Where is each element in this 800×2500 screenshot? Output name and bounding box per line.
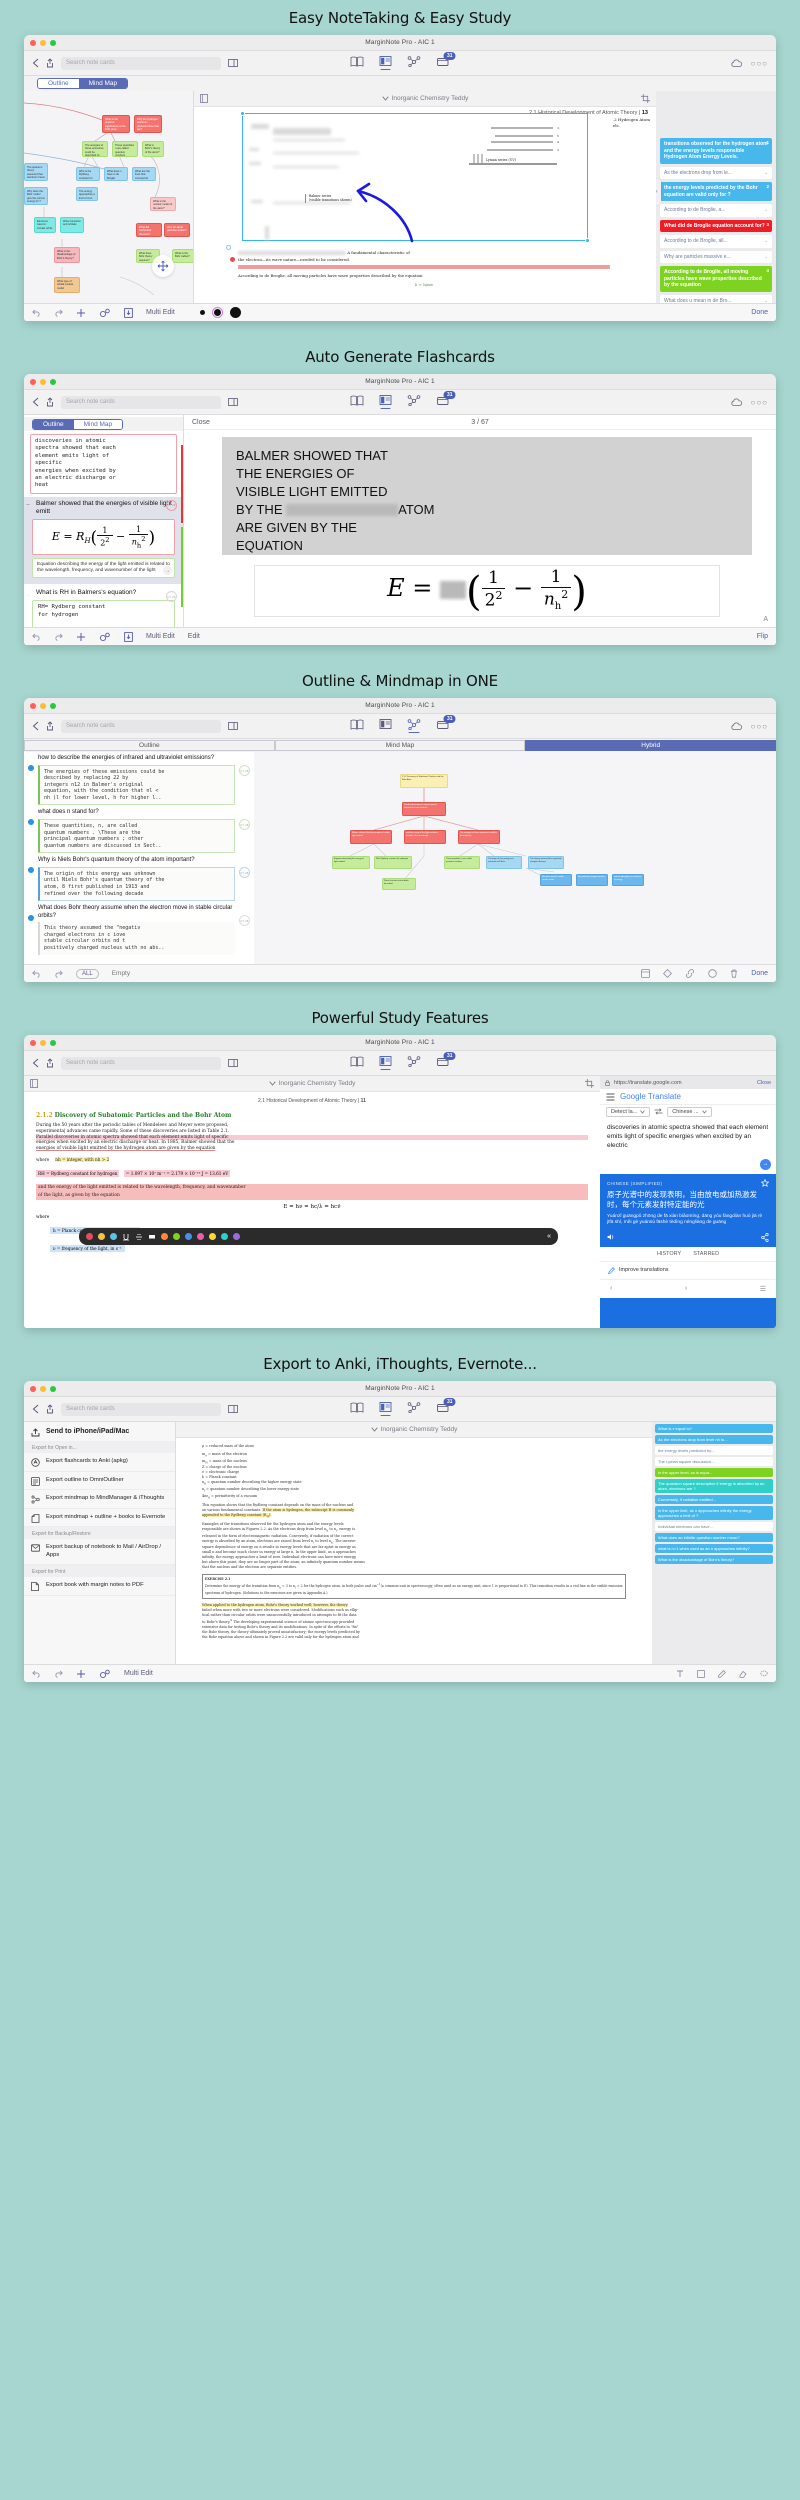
- note-card[interactable]: According to de Broglie, a...→: [660, 204, 772, 217]
- comment-marker[interactable]: [230, 257, 235, 262]
- flashcards-icon[interactable]: 31: [437, 719, 450, 733]
- pan-handle[interactable]: [152, 255, 174, 277]
- underline-icon[interactable]: [122, 1233, 130, 1241]
- mindmap-node[interactable]: 2.1.2 Discovery of Subatomic Particles a…: [400, 774, 448, 788]
- outline-selected-block[interactable]: − Balmer showed that the energies of vis…: [24, 497, 183, 584]
- search-input[interactable]: Search note cards: [61, 57, 221, 70]
- color-swatch-teal[interactable]: [221, 1233, 228, 1240]
- study-view-icon[interactable]: [380, 395, 392, 409]
- toolbar-right-3: ○○○: [730, 722, 769, 731]
- mindmap-node[interactable]: What is the Bohr radius?: [172, 249, 194, 263]
- color-swatch-red[interactable]: [86, 1233, 93, 1240]
- mindmap-pane-1[interactable]: What is the physical significance of the…: [24, 91, 194, 303]
- outline-note-1[interactable]: discoveries in atomic spectra showed tha…: [30, 434, 177, 494]
- undo-icon[interactable]: [32, 633, 41, 641]
- review-badge[interactable]: FY 28: [239, 867, 250, 878]
- add-icon[interactable]: [76, 632, 86, 642]
- flashcard-counter: 3 / 67: [471, 419, 489, 426]
- mindmap-icon[interactable]: [408, 1056, 421, 1070]
- flashcards-icon[interactable]: 31: [437, 1402, 450, 1416]
- document-title-5[interactable]: Inorganic Chemistry Teddy: [381, 1426, 458, 1433]
- note-cards-pane-1[interactable]: 1transitions observed for the hydrogen a…: [656, 91, 776, 303]
- undo-icon[interactable]: [32, 1670, 41, 1678]
- prev-palette-icon[interactable]: «: [547, 1233, 551, 1240]
- note-cards-pane-5[interactable]: What is x equal to? As the electrons dro…: [652, 1422, 776, 1664]
- study-view-icon[interactable]: [380, 56, 392, 70]
- flip-button[interactable]: Flip: [757, 633, 768, 640]
- improve-translations-link[interactable]: Improve translations: [600, 1261, 776, 1279]
- outline-green-note-1[interactable]: Equation describing the energy of the li…: [32, 558, 175, 578]
- undo-icon[interactable]: [32, 970, 41, 978]
- share-icon[interactable]: [46, 1404, 54, 1414]
- mindmap-icon[interactable]: [408, 395, 421, 409]
- target-language-select[interactable]: Chinese ...: [667, 1107, 711, 1117]
- mindmap-node[interactable]: What does n have in de Broglie equation?: [104, 167, 128, 181]
- flashcards-icon[interactable]: 31: [437, 56, 450, 70]
- note-card[interactable]: 2the energy levels predicted by the Bohr…: [660, 182, 772, 201]
- search-input[interactable]: Search note cards: [61, 1403, 221, 1416]
- view-mode-tabs[interactable]: 31: [351, 719, 450, 733]
- export-item-omnioutliner[interactable]: Export outline to OmniOutliner: [24, 1472, 175, 1491]
- outline-sidebar-2[interactable]: Outline Mind Map discoveries in atomic s…: [24, 415, 184, 627]
- mindmap-node[interactable]: with no absorption or emission of energy: [612, 874, 644, 886]
- chevron-down-icon: [702, 1110, 707, 1114]
- mindmap-node[interactable]: The origin of this energy was unknown un…: [486, 856, 522, 869]
- export-item-pdf[interactable]: Export book with margin notes to PDF: [24, 1577, 175, 1596]
- star-icon[interactable]: [761, 1179, 769, 1187]
- starred-tab[interactable]: STARRED: [693, 1251, 719, 1257]
- pen-tool-icon[interactable]: [718, 1670, 726, 1678]
- review-badge[interactable]: FY 28: [239, 765, 250, 776]
- tab-mindmap-1[interactable]: Mind Map: [79, 79, 128, 88]
- mindmap-node[interactable]: Electrons travel in circular orbits: [34, 217, 56, 233]
- tag-icon[interactable]: [663, 969, 672, 978]
- mindmap-node[interactable]: What is the physical significance of the…: [102, 115, 130, 133]
- review-badge[interactable]: FY 28: [166, 500, 177, 511]
- bottom-bar-5: Multi Edit: [24, 1664, 776, 1682]
- note-card[interactable]: The quantum square description if energy…: [655, 1479, 773, 1493]
- text-tool-icon[interactable]: [676, 1670, 684, 1678]
- share-icon[interactable]: [46, 721, 54, 731]
- flashcards-icon[interactable]: 31: [437, 1056, 450, 1070]
- titlebar-1: MarginNote Pro - AIC 1: [24, 35, 776, 51]
- fig-caption-right: .2 Hydrogen Atom els.: [613, 117, 650, 129]
- color-icon[interactable]: [708, 969, 717, 978]
- mindmap-node[interactable]: What are the lines that correspond and r…: [132, 167, 156, 181]
- back-icon[interactable]: [32, 397, 39, 407]
- export-icon[interactable]: [124, 308, 133, 318]
- hybrid-tabs[interactable]: Outline Mind Map Hybrid: [24, 739, 776, 752]
- flashcard-equation-text: E = (122 − 1nh2): [387, 567, 587, 615]
- split-view-icon[interactable]: [228, 59, 238, 67]
- outline-question: what does n stand for?: [38, 809, 235, 817]
- study-view-icon[interactable]: [380, 1056, 392, 1070]
- study-view-icon[interactable]: [380, 1402, 392, 1416]
- mindmap-icon[interactable]: [408, 1402, 421, 1416]
- document-list-icon[interactable]: [30, 1079, 38, 1088]
- selection-dot[interactable]: [28, 819, 34, 825]
- note-card[interactable]: What is the disadvantage of Bohr's theor…: [655, 1555, 773, 1564]
- note-card[interactable]: 1transitions observed for the hydrogen a…: [660, 138, 772, 164]
- outline-pane-3[interactable]: how to describe the energies of infrared…: [24, 752, 254, 964]
- mindmap-node[interactable]: The energies of these emissions could be…: [82, 141, 108, 157]
- split-view-icon[interactable]: [228, 398, 238, 406]
- lasso-tool-icon[interactable]: [760, 1670, 768, 1678]
- export-group-label: Export for Backup/Restore: [24, 1527, 175, 1539]
- browser-url-bar[interactable]: https://translate.google.com Close: [600, 1076, 776, 1089]
- doc-where-rh-value[interactable]: = 1.097 × 10⁷ m⁻¹ = 2.179 × 10⁻¹⁸ J = 13…: [124, 1170, 230, 1177]
- note-card[interactable]: 3What did de Broglie equation account fo…: [660, 220, 772, 233]
- done-button-1[interactable]: Done: [751, 309, 768, 316]
- pen-size-small[interactable]: [200, 310, 205, 315]
- note-card[interactable]: What is x equal to?: [655, 1424, 773, 1433]
- color-swatch-pink[interactable]: [197, 1233, 204, 1240]
- redo-icon[interactable]: [54, 1670, 63, 1678]
- mindmap-icon: [31, 1495, 40, 1504]
- split-view-icon[interactable]: [228, 1405, 238, 1413]
- mindmap-node[interactable]: These quantities n are called quantum nu…: [444, 856, 480, 869]
- export-group-label: Export for Print: [24, 1565, 175, 1577]
- document-title-1[interactable]: Inorganic Chemistry Teddy: [392, 95, 469, 102]
- back-icon[interactable]: [32, 1058, 39, 1068]
- strikethrough-icon[interactable]: [135, 1233, 143, 1241]
- mindmap-node[interactable]: The energy approaches a limit of zero: [76, 187, 98, 201]
- mindmap-node[interactable]: These quantities n are called quantum nu…: [112, 141, 138, 157]
- toolbar-4: Search note cards 31: [24, 1051, 776, 1076]
- highlight-icon[interactable]: [148, 1233, 156, 1241]
- export-item-backup[interactable]: Export backup of notebook to Mail / AirD…: [24, 1539, 175, 1565]
- mindmap-node[interactable]: and the energy of the light emitted is r…: [404, 830, 446, 844]
- chevron-down-icon: [269, 1081, 276, 1086]
- eraser-tool-icon[interactable]: [739, 1670, 747, 1678]
- more-options-icon[interactable]: ○○○: [751, 59, 769, 68]
- tab-outline-3[interactable]: Outline: [24, 740, 275, 751]
- search-input[interactable]: Search note cards: [61, 720, 221, 733]
- selection-dot[interactable]: [28, 915, 34, 921]
- card-color-bar-red: [181, 445, 183, 523]
- share-icon[interactable]: [761, 1233, 769, 1242]
- doc-blue-2[interactable]: ν = frequency of the light, in s⁻¹: [50, 1245, 125, 1252]
- document-pane-5[interactable]: Inorganic Chemistry Teddy μ = reduced ma…: [176, 1422, 652, 1664]
- share-icon[interactable]: [46, 397, 54, 407]
- review-badge[interactable]: FY 28: [166, 591, 177, 602]
- back-icon[interactable]: [32, 1404, 39, 1414]
- view-mode-tabs[interactable]: 31: [351, 56, 450, 70]
- mindmap-node[interactable]: Wave functions and orbitals described: [382, 878, 416, 890]
- color-swatch-orange[interactable]: [161, 1233, 168, 1240]
- segment-row-2: Outline Mind Map: [24, 417, 183, 431]
- mindmap-node[interactable]: What did Rutherford discover?: [136, 223, 162, 237]
- cloud-sync-icon[interactable]: [730, 722, 743, 731]
- anki-icon: [31, 1458, 40, 1467]
- color-swatch-gold[interactable]: [209, 1233, 216, 1240]
- book-icon[interactable]: [351, 719, 364, 733]
- chevron-down-icon: [640, 1110, 645, 1114]
- split-view-icon[interactable]: [228, 722, 238, 730]
- flashcards-icon[interactable]: 31: [437, 395, 450, 409]
- multi-edit-button[interactable]: Multi Edit: [146, 309, 175, 316]
- view-mode-tabs[interactable]: 31: [351, 395, 450, 409]
- outline-question: Why is Niels Bohr's quantum theory of th…: [38, 857, 235, 865]
- doc-body-1[interactable]: A fundamental characteristic of the elec…: [238, 249, 610, 288]
- document-list-icon[interactable]: [200, 94, 208, 103]
- section-title-2: Auto Generate Flashcards: [0, 339, 800, 374]
- redo-icon[interactable]: [54, 309, 63, 317]
- settings-icon[interactable]: [99, 308, 111, 318]
- language-selector[interactable]: Detect la... Chinese ...: [600, 1104, 776, 1118]
- note-card[interactable]: in the upper level, so is equa...: [655, 1468, 773, 1477]
- cloud-sync-icon[interactable]: [730, 398, 743, 407]
- redo-icon[interactable]: [54, 633, 63, 641]
- outline-row[interactable]: Why is Niels Bohr's quantum theory of th…: [24, 854, 254, 902]
- mindmap-node[interactable]: The quantum theory assumed that electron…: [24, 163, 48, 181]
- edit-button[interactable]: Edit: [188, 633, 200, 640]
- equation-text-1: E = RH(122 − 1nh2): [52, 530, 155, 543]
- mindmap-node[interactable]: the positively charged nucleus: [576, 874, 608, 886]
- note-card[interactable]: in the upper limit, as n approaches infi…: [655, 1506, 773, 1520]
- done-button-3[interactable]: Done: [751, 970, 768, 977]
- window-3: MarginNote Pro - AIC 1 Search note cards…: [24, 698, 776, 982]
- cloud-sync-icon[interactable]: [730, 59, 743, 68]
- caption-b: the electron—its wave nature—needed to b…: [238, 257, 350, 262]
- mindmap-node[interactable]: What is the nuclear model of the atom?: [150, 197, 176, 211]
- mail-icon: [31, 1544, 40, 1552]
- flashcard-question[interactable]: BALMER SHOWED THAT THE ENERGIES OF VISIB…: [222, 437, 752, 555]
- outline-row[interactable]: what does n stand for? These quantities,…: [24, 806, 254, 854]
- document-title-4[interactable]: Inorganic Chemistry Teddy: [279, 1080, 356, 1087]
- mindmap-node[interactable]: What is Bohr's theory of the atom?: [142, 141, 164, 157]
- review-badge[interactable]: FY 28: [239, 819, 250, 830]
- mindmap-node[interactable]: This theory assumed the negatively charg…: [528, 856, 564, 869]
- undo-icon[interactable]: [32, 309, 41, 317]
- book-icon[interactable]: [351, 395, 364, 409]
- export-item-evernote[interactable]: Export mindmap + outline + books to Ever…: [24, 1509, 175, 1528]
- color-swatch-blue[interactable]: [185, 1233, 192, 1240]
- more-options-icon[interactable]: ○○○: [751, 722, 769, 731]
- note-card[interactable]: As the electrons drop from level nh to..…: [655, 1435, 773, 1444]
- outline-mono-note-2[interactable]: RH= Rydberg constant for hydrogen = 1.09…: [32, 600, 175, 627]
- reading-pane-1[interactable]: Inorganic Chemistry Teddy 2.1 Historical…: [194, 91, 656, 303]
- link-icon[interactable]: [685, 969, 695, 978]
- doc-where-value[interactable]: nh = integer, with nh > 2: [55, 1157, 109, 1162]
- note-card[interactable]: According to de Broglie, all...→: [660, 235, 772, 248]
- window-title-2: MarginNote Pro - AIC 1: [24, 378, 776, 385]
- mindmap-node[interactable]: Why the hydrogen spectrum produces lines…: [134, 115, 162, 133]
- book-icon[interactable]: [351, 56, 364, 70]
- body-4: Inorganic Chemistry Teddy 2.1 Historical…: [24, 1076, 776, 1328]
- fig-label-lyman: Lyman series (UV): [486, 158, 516, 162]
- mindmap-node[interactable]: Who is the Rydberg constant for hydrogen…: [76, 167, 100, 181]
- back-icon[interactable]: [32, 721, 39, 731]
- color-swatch-cyan[interactable]: [110, 1233, 117, 1240]
- mindmap-icon[interactable]: [408, 56, 421, 70]
- speaker-icon[interactable]: [607, 1233, 615, 1241]
- add-icon[interactable]: [76, 308, 86, 318]
- outline-question: What does Bohr theory assume when the el…: [38, 905, 235, 920]
- color-swatch-yellow[interactable]: [98, 1233, 105, 1240]
- source-language-select[interactable]: Detect la...: [606, 1107, 650, 1117]
- note-card[interactable]: what is n=1 when used as an n approaches…: [655, 1544, 773, 1553]
- mindmap-node[interactable]: Why does the Bohr model give the correct…: [24, 187, 48, 205]
- mindmap-node[interactable]: How do alpha particles scatter?: [164, 223, 190, 237]
- search-input[interactable]: Search note cards: [61, 1057, 221, 1070]
- pen-row[interactable]: [200, 307, 241, 318]
- pen-size-medium[interactable]: [214, 309, 221, 316]
- share-icon[interactable]: [46, 58, 54, 68]
- view-mode-tabs[interactable]: 31: [351, 1402, 450, 1416]
- mindmap-node[interactable]: Parallel discoveries in atomic spectra s…: [402, 802, 446, 816]
- margin-marker[interactable]: [226, 245, 231, 250]
- caption-c: According to de Broglie, all moving part…: [238, 272, 610, 279]
- mindmap-node[interactable]: RH= Rydberg constant for hydrogen: [374, 856, 412, 869]
- doc-para-red-2[interactable]: of the light, as given by the equation: [36, 1192, 588, 1200]
- empty-filter-button[interactable]: Empty: [112, 970, 130, 977]
- book-icon[interactable]: [351, 1056, 364, 1070]
- arrow-right-icon[interactable]: →: [163, 566, 172, 575]
- doc-where-rh[interactable]: RH = Rydberg constant for hydrogen: [36, 1170, 119, 1177]
- arrow-right-icon: →: [763, 298, 768, 304]
- delete-icon[interactable]: [730, 969, 738, 978]
- selection-dot[interactable]: [28, 867, 34, 873]
- shape-tool-icon[interactable]: [697, 1670, 705, 1678]
- translate-result: CHINESE (SIMPLIFIED) 原子光谱中的发现表明，当由放电或加热激…: [600, 1174, 776, 1247]
- export-menu[interactable]: Send to iPhone/iPad/Mac Export for Open …: [24, 1422, 176, 1664]
- multi-edit-button[interactable]: Multi Edit: [146, 633, 175, 640]
- back-icon[interactable]: [32, 58, 39, 68]
- section-title-1: Easy NoteTaking & Easy Study: [0, 0, 800, 35]
- note-card[interactable]: As the electrons drop from le...→: [660, 167, 772, 180]
- mindmap-node[interactable]: Balmer showed that the energies of visib…: [350, 830, 392, 844]
- selection-dot[interactable]: [28, 765, 34, 771]
- history-tab[interactable]: HISTORY: [657, 1251, 681, 1257]
- doc-where-label-2: where: [36, 1214, 588, 1219]
- mindmap-node[interactable]: What type of orbital nuclear model: [54, 277, 80, 293]
- outline-row[interactable]: how to describe the energies of infrared…: [24, 752, 254, 806]
- outline-mindmap-tabs-2[interactable]: Outline Mind Map: [32, 419, 123, 430]
- note-card[interactable]: Individual electrons can have...: [655, 1522, 773, 1531]
- view-mode-tabs[interactable]: 31: [351, 1056, 450, 1070]
- tab-mindmap-2[interactable]: Mind Map: [74, 420, 123, 429]
- book-icon[interactable]: [351, 1402, 364, 1416]
- tab-hybrid-3[interactable]: Hybrid: [525, 740, 776, 751]
- browser-url-text[interactable]: https://translate.google.com: [614, 1080, 753, 1086]
- note-card[interactable]: the energy levels predicted by...: [655, 1446, 773, 1455]
- hamburger-icon[interactable]: [606, 1093, 615, 1101]
- mindmap-node[interactable]: Equation describing the energy of light …: [332, 856, 370, 869]
- collapse-cards-handle[interactable]: ›: [656, 179, 661, 205]
- resize-handle-tl[interactable]: [240, 111, 245, 116]
- multi-edit-button[interactable]: Multi Edit: [124, 1670, 153, 1677]
- swap-languages-icon[interactable]: [654, 1108, 663, 1115]
- tab-outline-1[interactable]: Outline: [38, 79, 79, 88]
- section-title-3: Outline & Mindmap in ONE: [0, 663, 800, 698]
- note-card[interactable]: The Lyman square discussion...: [655, 1457, 773, 1466]
- outline-icon: [31, 1477, 40, 1486]
- mindmap-node[interactable]: The energies of these emissions could be…: [458, 830, 500, 844]
- export-menu-title: Send to iPhone/iPad/Mac: [24, 1422, 175, 1441]
- search-input[interactable]: Search note cards: [61, 396, 221, 409]
- mindmap-node[interactable]: Wave functions and orbitals: [60, 217, 84, 233]
- equation-box-1[interactable]: E = RH(122 − 1nh2): [32, 519, 175, 555]
- settings-icon[interactable]: [99, 1669, 111, 1679]
- titlebar-5: MarginNote Pro - AIC 1: [24, 1381, 776, 1397]
- pen-size-large[interactable]: [230, 307, 241, 318]
- export-item-mindmanager[interactable]: Export mindmap to MindManager & iThought…: [24, 1490, 175, 1509]
- note-card[interactable]: 4According to de Broglie, all moving par…: [660, 266, 772, 292]
- browser-back-button[interactable]: ‹: [610, 1285, 612, 1293]
- flashcard-main[interactable]: Close 3 / 67 BALMER SHOWED THAT THE ENER…: [184, 415, 776, 627]
- google-translate-panel[interactable]: https://translate.google.com Close Googl…: [600, 1076, 776, 1328]
- more-options-icon[interactable]: ○○○: [751, 398, 769, 407]
- outline-mindmap-tabs-1[interactable]: Outline Mind Map: [37, 78, 128, 89]
- edit-icon: [608, 1267, 615, 1274]
- svg-text:∞: ∞: [557, 126, 560, 130]
- translate-submit-button[interactable]: →: [760, 1159, 771, 1170]
- doc-para-red-1[interactable]: and the energy of the light emitted is r…: [36, 1184, 588, 1192]
- window-title-1: MarginNote Pro - AIC 1: [24, 39, 776, 46]
- color-swatch-purple[interactable]: [233, 1233, 240, 1240]
- toolbar-1: Search note cards 31: [24, 51, 776, 76]
- doc-body-5[interactable]: μ = reduced mass of the atom me = mass o…: [176, 1438, 652, 1646]
- highlighter-palette[interactable]: «: [79, 1228, 558, 1245]
- note-card[interactable]: Why are particles massive e...→: [660, 251, 772, 264]
- export-item-anki[interactable]: Export flashcards to Anki (apkg): [24, 1453, 175, 1472]
- export-icon[interactable]: [124, 632, 133, 642]
- tab-mindmap-3[interactable]: Mind Map: [275, 740, 526, 751]
- note-card[interactable]: Conversely, if radiation emitted...: [655, 1495, 773, 1504]
- note-card[interactable]: What does an infinite question number me…: [655, 1533, 773, 1542]
- mindmap-icon[interactable]: [408, 719, 421, 733]
- browser-forward-button[interactable]: ›: [685, 1285, 687, 1293]
- highlight-red-bar[interactable]: [238, 265, 610, 269]
- mindmap-node[interactable]: Electrons travel in stable circular orbi…: [540, 874, 572, 886]
- review-badge[interactable]: FY 28: [239, 915, 250, 926]
- flashcard-question-text: BALMER SHOWED THAT THE ENERGIES OF VISIB…: [222, 437, 752, 565]
- close-flashcard-button[interactable]: Close: [192, 419, 210, 426]
- tab-outline-2[interactable]: Outline: [33, 420, 74, 429]
- pdf-icon: [31, 1582, 39, 1591]
- translate-title: Google Translate: [620, 1092, 681, 1101]
- crop-icon[interactable]: [641, 94, 650, 103]
- study-view-icon[interactable]: [380, 719, 392, 733]
- svg-text:5: 5: [557, 134, 559, 138]
- browser-menu-button[interactable]: ☰: [760, 1285, 766, 1293]
- document-pane-4[interactable]: Inorganic Chemistry Teddy 2.1 Historical…: [24, 1076, 600, 1328]
- translate-source-text[interactable]: discoveries in atomic spectra showed tha…: [600, 1118, 776, 1174]
- crop-icon[interactable]: [585, 1079, 594, 1088]
- settings-icon[interactable]: [99, 632, 111, 642]
- outline-question-2: · What is RH in Balmers's equation? FY 2…: [24, 589, 183, 597]
- outline-row[interactable]: What does Bohr theory assume when the el…: [24, 902, 254, 955]
- send-icon: [31, 1428, 40, 1437]
- layout-icon[interactable]: [641, 969, 650, 978]
- resize-handle-br[interactable]: [585, 238, 590, 243]
- all-filter-button[interactable]: ALL: [76, 969, 99, 979]
- mindmap-node[interactable]: What is the disadvantage of Bohr's theor…: [54, 247, 80, 263]
- split-view-icon[interactable]: [228, 1059, 238, 1067]
- note-card[interactable]: What does u mean in de Bro...→: [660, 295, 772, 304]
- add-icon[interactable]: [76, 1669, 86, 1679]
- color-swatch-green[interactable]: [173, 1233, 180, 1240]
- doc-equation-2: E = hν = hc/λ = hcν̄: [36, 1204, 588, 1210]
- reading-toolbar-4: Inorganic Chemistry Teddy: [24, 1076, 600, 1092]
- share-icon[interactable]: [46, 1058, 54, 1068]
- redo-icon[interactable]: [54, 970, 63, 978]
- body-3: how to describe the energies of infrared…: [24, 752, 776, 964]
- translate-footer: HISTORY STARRED Improve translations ‹ ›…: [600, 1247, 776, 1298]
- mindmap-pane-3[interactable]: 2.1.2 Discovery of Subatomic Particles a…: [254, 752, 776, 964]
- browser-close-button[interactable]: Close: [757, 1080, 771, 1086]
